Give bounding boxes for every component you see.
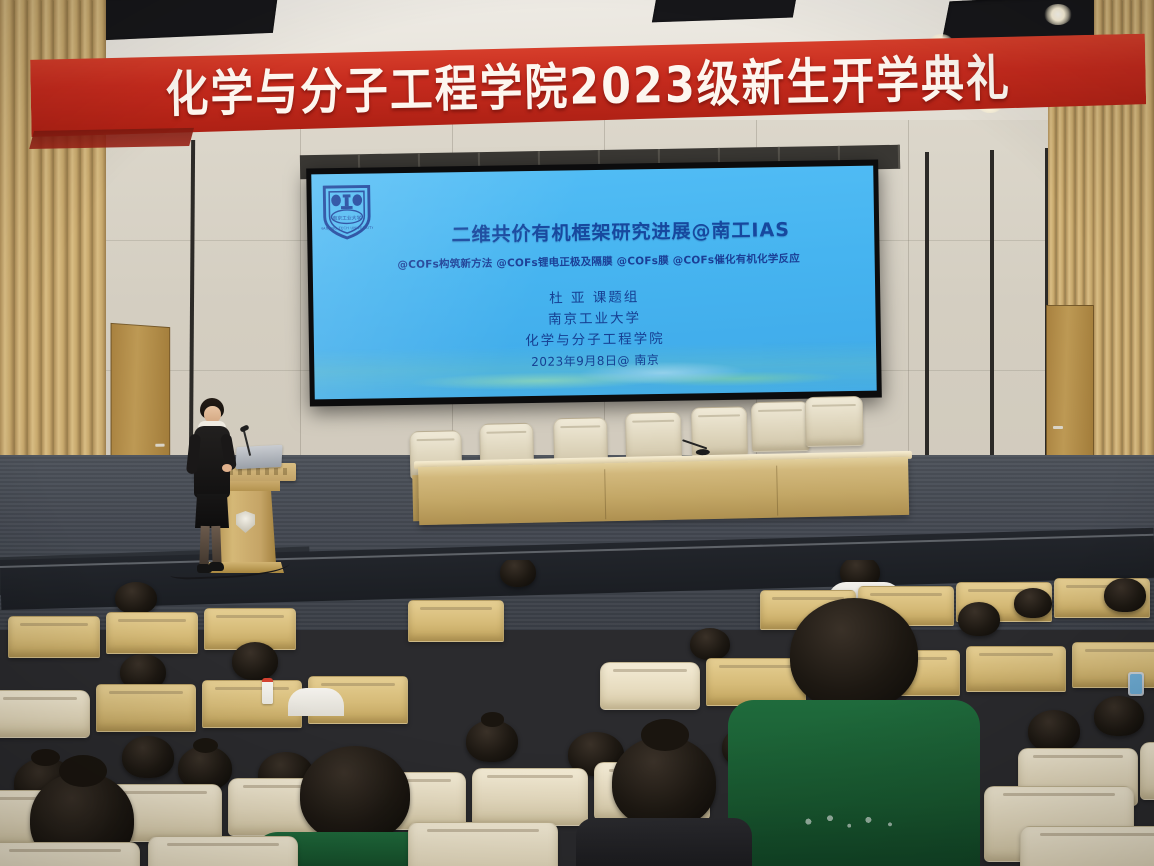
audience-head: [1104, 578, 1146, 612]
audience-person-body: [288, 688, 344, 716]
audience-seat-foreground: [408, 822, 558, 866]
projection-screen: 南京工业大学 NANJING TECH UNIVERSITY 二维共价有机框架研…: [306, 160, 882, 407]
audience-head: [500, 560, 536, 587]
auditorium-photo: 南京工业大学 NANJING TECH UNIVERSITY 二维共价有机框架研…: [0, 0, 1154, 866]
podium-university-emblem-icon: [236, 511, 255, 533]
wall-mullion: [990, 150, 994, 485]
head-table-front-panel: [418, 457, 909, 525]
audience-head-foreground: [790, 598, 918, 710]
audience-seat: [408, 600, 504, 642]
green-shirt-chemistry-print: [794, 808, 914, 842]
head-table-area: [403, 395, 925, 526]
slide-title: 二维共价有机框架研究进展@南工IAS: [368, 214, 873, 249]
audience-seat: [600, 662, 700, 710]
banner-fold: [29, 128, 194, 149]
svg-text:南京工业大学: 南京工业大学: [332, 214, 361, 221]
ceiling-downlight: [1044, 4, 1072, 25]
audience-head: [232, 642, 278, 680]
audience-head: [115, 582, 157, 614]
slide-body-block: 杜 亚 课题组 南京工业大学 化学与分子工程学院 2023年9月8日@ 南京: [313, 284, 876, 377]
presenter-skirt: [195, 494, 229, 528]
podium-laptop: [235, 445, 282, 469]
njtech-university-shield-logo: 南京工业大学 NANJING TECH UNIVERSITY: [320, 183, 373, 240]
slide-subtitle: @COFs构筑新方法 @COFs锂电正极及隔膜 @COFs膜 @COFs催化有机…: [325, 250, 873, 274]
audience-seat: [8, 616, 100, 658]
audience-head: [1028, 710, 1080, 752]
audience-head-foreground: [612, 736, 716, 828]
water-bottle: [262, 678, 273, 704]
head-table-chair: [751, 401, 810, 452]
audience-phone: [1128, 672, 1144, 696]
audience-head: [958, 602, 1000, 636]
audience-seat: [96, 684, 196, 732]
presenter-hand: [222, 464, 232, 472]
audience-seat-foreground: [1020, 826, 1154, 866]
audience-head: [1094, 696, 1144, 736]
audience-head: [690, 628, 730, 660]
audience-person-green-shirt: [728, 700, 980, 866]
door-handle-icon: [155, 444, 164, 447]
event-banner: 化学与分子工程学院2023级新生开学典礼: [30, 34, 1147, 165]
audience-seat: [106, 612, 198, 654]
audience-head: [1014, 588, 1052, 618]
presenter: [186, 398, 236, 576]
audience-seat: [472, 768, 588, 826]
audience-seat-foreground: [0, 842, 140, 866]
audience-seat: [202, 680, 302, 728]
ceiling-acoustic-panel: [652, 0, 798, 22]
audience-head-foreground: [300, 746, 410, 842]
door-handle-icon: [1053, 426, 1063, 429]
audience-head: [122, 736, 174, 778]
audience-person-body: [576, 818, 752, 866]
audience-seat: [1140, 742, 1154, 800]
audience-seat: [0, 690, 90, 738]
banner-text: 化学与分子工程学院2023级新生开学典礼: [165, 38, 1012, 126]
wall-mullion: [925, 152, 929, 482]
svg-text:NANJING TECH UNIVERSITY: NANJING TECH UNIVERSITY: [320, 226, 373, 231]
audience-seating: [0, 560, 1154, 866]
head-table-chair: [805, 396, 864, 447]
audience-seat-foreground: [148, 836, 298, 866]
slide-surface: 南京工业大学 NANJING TECH UNIVERSITY 二维共价有机框架研…: [311, 166, 876, 400]
audience-head: [466, 720, 518, 762]
audience-seat: [966, 646, 1066, 692]
